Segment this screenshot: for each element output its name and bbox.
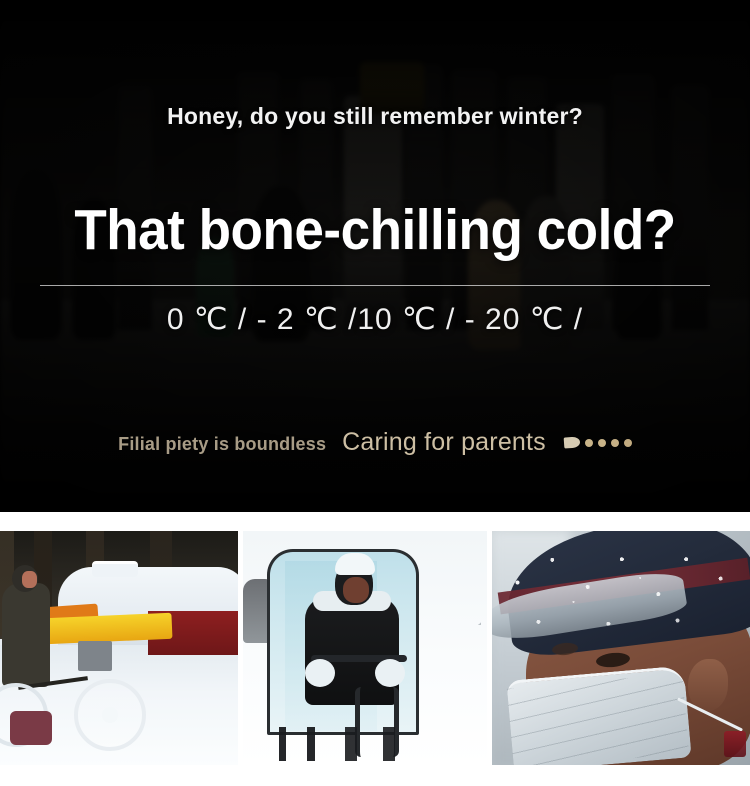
photo1-bicycle-wheel-front <box>74 679 146 751</box>
hero-banner: Honey, do you still remember winter? Tha… <box>0 0 750 512</box>
photo3-corner-mark <box>724 731 746 757</box>
photo-strip <box>0 531 750 765</box>
hero-content: Honey, do you still remember winter? Tha… <box>0 0 750 512</box>
photo2-snow-capped-hat <box>335 553 375 575</box>
photo1-rider-face <box>22 571 37 588</box>
winter-campaign-page: Honey, do you still remember winter? Tha… <box>0 0 750 786</box>
photo-cyclist-beside-snow-covered-taxi <box>0 531 238 765</box>
photo1-pink-bag <box>10 711 52 745</box>
hero-eyebrow-text: Honey, do you still remember winter? <box>0 103 750 130</box>
photo1-bicycle-basket <box>78 641 112 671</box>
caption-dots-decoration <box>564 437 632 448</box>
hero-divider-rule <box>40 285 710 286</box>
dot-icon-2 <box>598 439 606 447</box>
caption-caring-for-parents: Caring for parents <box>342 428 546 457</box>
photo1-rider-body <box>2 583 50 687</box>
photo-pedicab-rider-in-snow <box>243 531 486 765</box>
hero-headline: That bone-chilling cold? <box>26 198 724 262</box>
dot-icon-1 <box>585 439 593 447</box>
hero-temperature-list: 0 ℃ / - 2 ℃ /10 ℃ / - 20 ℃ / <box>0 300 750 340</box>
dot-icon-3 <box>611 439 619 447</box>
photo2-tricycle-frame <box>279 727 409 761</box>
photo3-mask-pleats <box>507 673 689 765</box>
dot-icon-4 <box>624 439 632 447</box>
photo-elderly-face-with-frost-and-mask <box>492 531 750 765</box>
photo3-ear <box>688 659 728 711</box>
caption-filial-piety: Filial piety is boundless <box>118 434 326 455</box>
wedge-icon <box>564 436 581 448</box>
photo1-taxi-rooflight <box>92 561 138 577</box>
photo2-rider-face <box>343 577 369 603</box>
hero-caption-row: Filial piety is boundless Caring for par… <box>0 428 750 457</box>
